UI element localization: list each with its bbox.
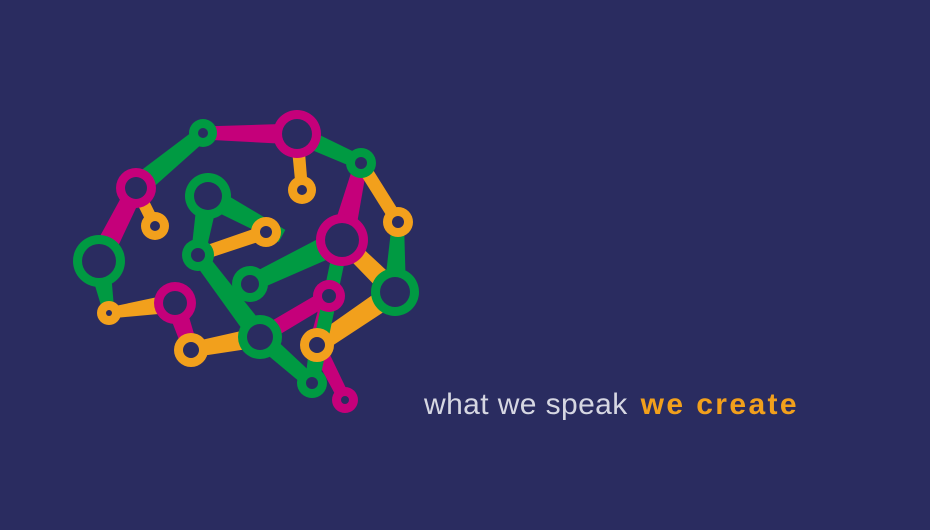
node-lower-orange-hole bbox=[183, 342, 199, 358]
node-bottom-magenta-tiny-hole bbox=[341, 396, 349, 404]
node-right-green-large-hole bbox=[380, 277, 410, 307]
node-bottom-orange-hole bbox=[309, 337, 325, 353]
node-core-magenta-large-hole bbox=[325, 223, 359, 257]
node-center-green-large-hole bbox=[194, 182, 222, 210]
tagline-accent-text: we create bbox=[641, 388, 799, 422]
node-left-green-large-hole bbox=[82, 244, 116, 278]
brain-network-logo bbox=[52, 96, 442, 441]
node-top-orange-small-hole bbox=[297, 185, 307, 195]
node-left-orange-small-hole bbox=[150, 221, 160, 231]
node-left-magenta-hole bbox=[125, 177, 147, 199]
node-bottom-magenta-hole bbox=[322, 289, 336, 303]
node-right-orange-hole bbox=[392, 216, 404, 228]
node-bottom-green-hole bbox=[247, 324, 273, 350]
tagline-light-text: what we speak bbox=[424, 388, 628, 422]
node-top-magenta-large-hole bbox=[282, 119, 312, 149]
node-top-right-green-hole bbox=[355, 157, 367, 169]
tagline: what we speak we create bbox=[424, 388, 799, 428]
node-mid-magenta-hole bbox=[163, 291, 187, 315]
node-top-left-small-hole bbox=[198, 128, 208, 138]
node-center-orange-hole bbox=[260, 226, 272, 238]
splash-canvas: what we speak we create bbox=[0, 0, 930, 530]
node-left-orange-tiny-hole bbox=[106, 310, 112, 316]
node-bottom-green-small-hole bbox=[306, 377, 318, 389]
node-inner-green-hole bbox=[241, 275, 259, 293]
node-center-green-small-hole bbox=[191, 248, 205, 262]
brain-network-logo-svg bbox=[52, 96, 442, 441]
